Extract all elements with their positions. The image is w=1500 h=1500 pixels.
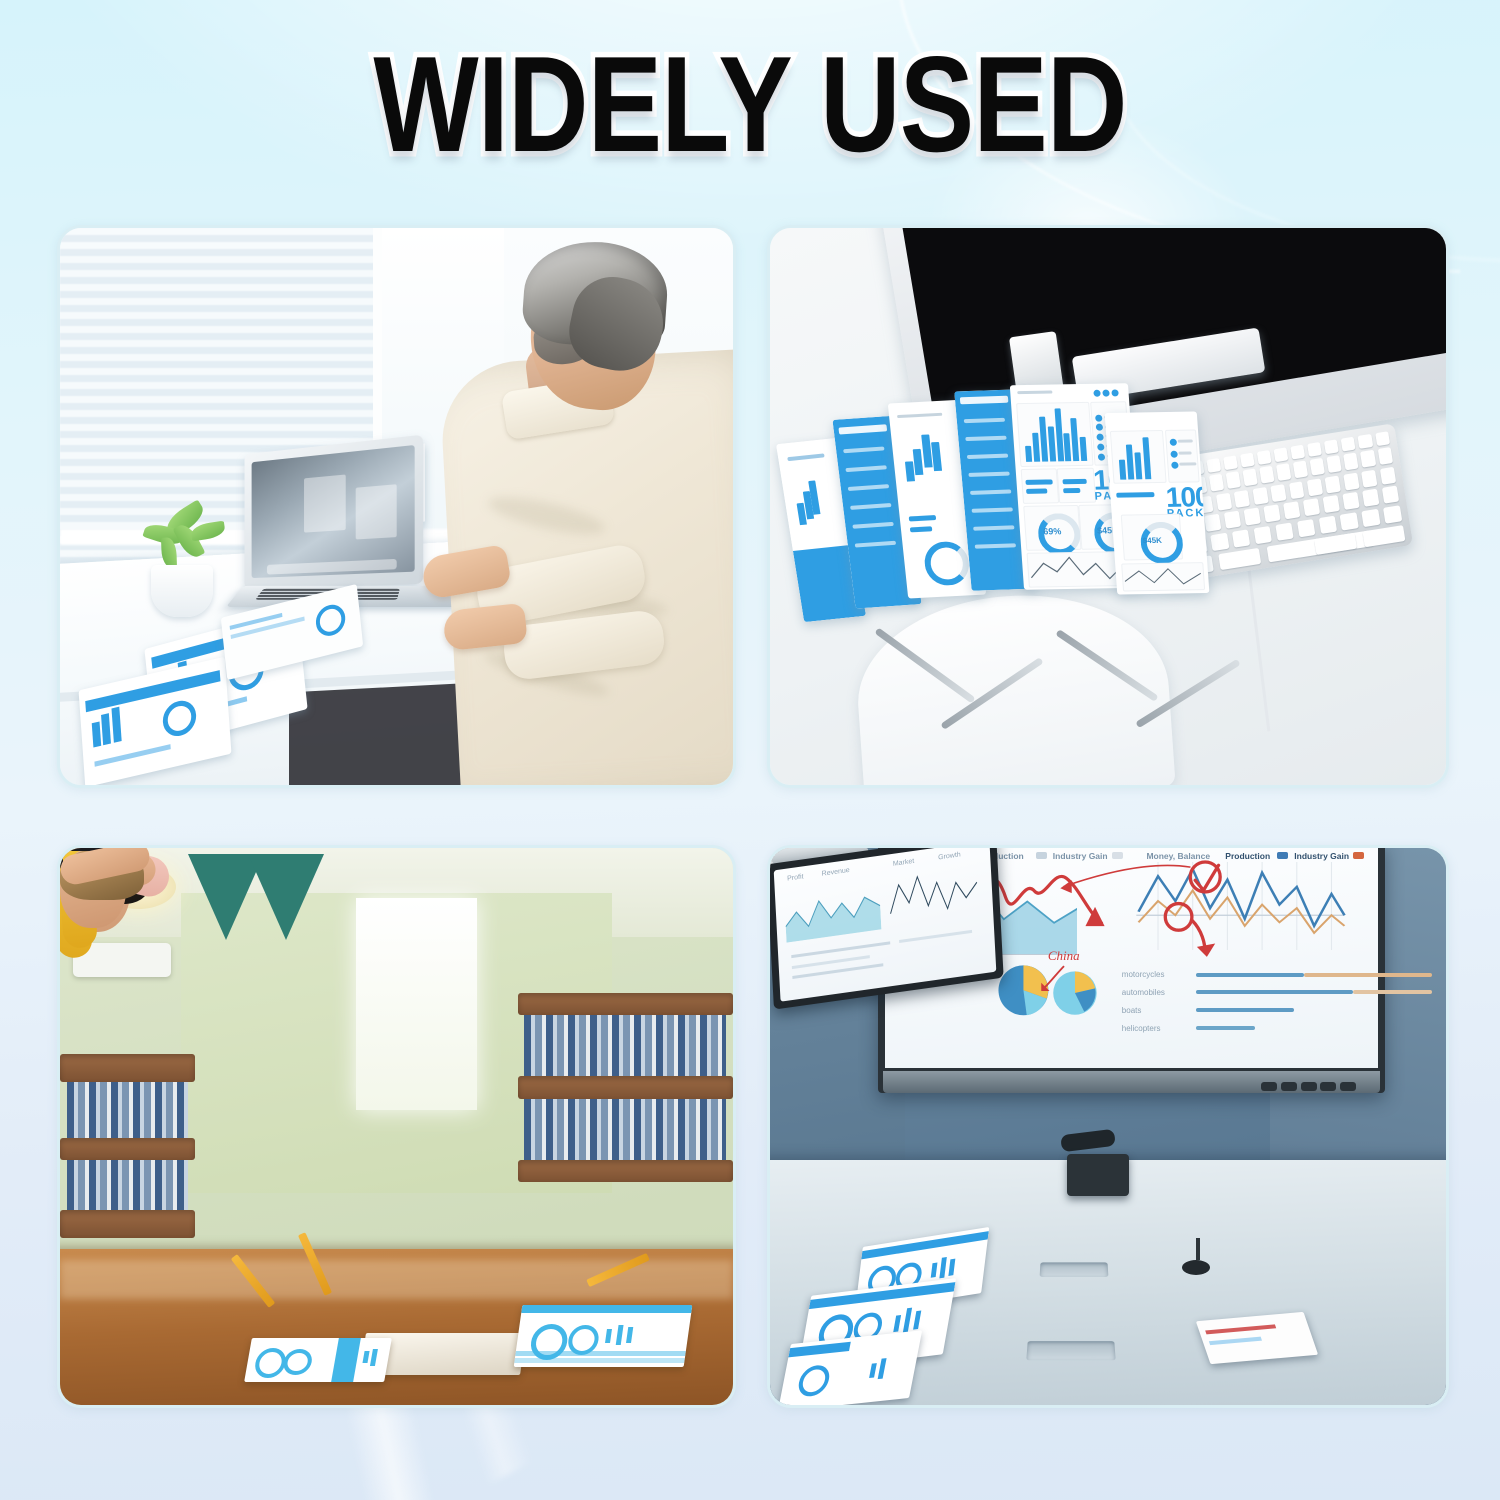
keyboard-key[interactable] (1209, 475, 1224, 493)
keyboard-key[interactable] (1211, 533, 1230, 551)
keyboard-key[interactable] (1216, 493, 1232, 511)
keyboard-key[interactable] (1340, 513, 1359, 531)
conference-phone (1067, 1154, 1129, 1196)
keyboard-key[interactable] (1361, 450, 1376, 468)
keyboard-key[interactable] (1283, 502, 1300, 520)
keyboard-key[interactable] (1380, 467, 1396, 485)
scene-card-business: Money, Balance Production Industry Gain … (767, 845, 1449, 1408)
paper-pack-front (245, 1338, 393, 1382)
wb-tab-4: Industry Gain (1294, 851, 1349, 861)
keyboard-key[interactable] (1344, 453, 1359, 471)
keyboard-key[interactable] (1382, 487, 1399, 505)
keyboard-key[interactable] (1274, 448, 1289, 462)
keyboard-key[interactable] (1384, 506, 1403, 524)
keyboard-key[interactable] (1325, 476, 1341, 494)
wb-legend-1: automobiles (1122, 988, 1165, 997)
keyboard-key[interactable] (1323, 496, 1340, 514)
keyboard-key[interactable] (1342, 493, 1359, 511)
keyboard-key[interactable] (1362, 525, 1405, 547)
keyboard-key[interactable] (1362, 470, 1378, 488)
keyboard-key[interactable] (1243, 469, 1258, 487)
wb-legend-0: motorcycles (1122, 970, 1165, 979)
keyboard-key[interactable] (1378, 448, 1393, 466)
keyboard-key[interactable] (1276, 464, 1291, 482)
classroom-window (356, 898, 477, 1110)
paper-pack-stacked (513, 1305, 692, 1367)
scene-card-daily-life: 100 PACK 69% $45K (767, 225, 1449, 788)
keyboard-key[interactable] (1341, 437, 1356, 451)
keyboard-key[interactable] (1362, 490, 1379, 508)
page-title: WIDELY USED (135, 36, 1365, 172)
keyboard-key[interactable] (1297, 520, 1316, 538)
keyboard-key[interactable] (1314, 533, 1357, 555)
keyboard-key[interactable] (1243, 508, 1260, 526)
keyboard-key[interactable] (1232, 530, 1251, 548)
wb-red-connector-arrow (999, 859, 1236, 908)
keyboard-key[interactable] (1271, 484, 1287, 502)
keyboard-key[interactable] (1219, 548, 1262, 570)
daily-life-photo: 100 PACK 69% $45K (770, 228, 1446, 785)
keyboard-key[interactable] (1327, 456, 1342, 474)
keyboard-key[interactable] (1291, 445, 1306, 459)
keyboard-key[interactable] (1307, 479, 1323, 497)
keyboard-key[interactable] (1252, 487, 1268, 505)
keyboard-key[interactable] (1263, 505, 1280, 523)
keyboard-key[interactable] (1254, 526, 1273, 544)
scene-card-school: School (57, 845, 736, 1408)
keyboard-key[interactable] (1204, 515, 1221, 533)
office-photo (60, 228, 733, 785)
keyboard-key[interactable] (1276, 523, 1295, 541)
keyboard-key[interactable] (1206, 459, 1221, 473)
school-photo (60, 848, 733, 1405)
keyboard-key[interactable] (1308, 443, 1323, 457)
keyboard-key[interactable] (1362, 509, 1381, 527)
keyboard-key[interactable] (1375, 432, 1390, 446)
keyboard-key[interactable] (1343, 473, 1359, 491)
keyboard-key[interactable] (1358, 435, 1373, 449)
business-photo: Money, Balance Production Industry Gain … (770, 848, 1446, 1405)
keyboard-key[interactable] (1325, 440, 1340, 454)
keyboard-key[interactable] (1293, 461, 1308, 479)
keyboard-key[interactable] (1260, 466, 1275, 484)
scene-card-office: Office (57, 225, 736, 788)
keyboard-key[interactable] (1319, 516, 1338, 534)
keyboard-key[interactable] (1303, 499, 1320, 517)
keyboard-key[interactable] (1224, 512, 1241, 530)
wb-legend-2: boats (1122, 1006, 1142, 1015)
keyboard-key[interactable] (1310, 458, 1325, 476)
poster-canvas: WIDELY USED (0, 0, 1500, 1500)
keyboard-key[interactable] (1223, 456, 1238, 470)
whiteboard-pen-tray (883, 1071, 1380, 1094)
keyboard-key[interactable] (1234, 490, 1250, 508)
keyboard-key[interactable] (1240, 453, 1255, 467)
keyboard-key[interactable] (1289, 482, 1305, 500)
keyboard-key[interactable] (1226, 472, 1241, 490)
keyboard-key[interactable] (1257, 451, 1272, 465)
wb-legend-3: helicopters (1122, 1024, 1161, 1033)
gauge-percent: 69% (1025, 526, 1079, 537)
